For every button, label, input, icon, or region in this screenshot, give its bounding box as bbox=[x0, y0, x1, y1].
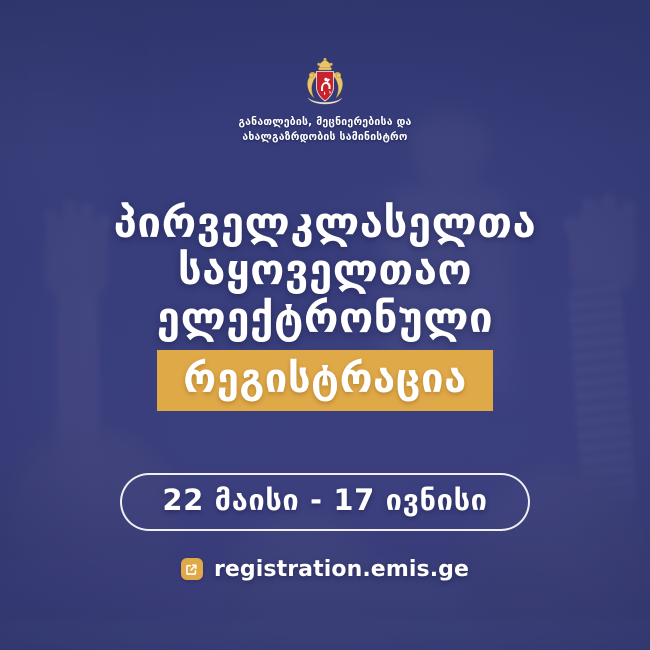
ministry-name-line2: ახალგაზრდობის სამინისტრო bbox=[238, 130, 411, 145]
ministry-name-line1: განათლების, მეცნიერებისა და bbox=[238, 115, 411, 130]
registration-url[interactable]: registration.emis.ge bbox=[214, 557, 469, 582]
headline-line-3: ელექტრონული bbox=[114, 294, 537, 341]
registration-poster: განათლების, მეცნიერებისა და ახალგაზრდობი… bbox=[0, 0, 650, 650]
date-range-pill: 22 მაისი - 17 ივნისი bbox=[120, 473, 529, 531]
highlight-wrapper: რეგისტრაცია bbox=[157, 350, 492, 411]
external-link-icon bbox=[181, 558, 203, 580]
headline: პირველკლასელთა საყოველთაო ელექტრონული bbox=[114, 199, 537, 340]
date-pill-wrapper: 22 მაისი - 17 ივნისი bbox=[120, 473, 529, 531]
headline-line-1: პირველკლასელთა bbox=[114, 199, 537, 246]
ministry-name: განათლების, მეცნიერებისა და ახალგაზრდობი… bbox=[238, 115, 411, 145]
headline-line-2: საყოველთაო bbox=[114, 246, 537, 293]
registration-link-row[interactable]: registration.emis.ge bbox=[181, 557, 469, 582]
shield-shape bbox=[317, 72, 334, 102]
ministry-logo-block: განათლების, მეცნიერებისა და ახალგაზრდობი… bbox=[238, 58, 411, 145]
poster-content: განათლების, მეცნიერებისა და ახალგაზრდობი… bbox=[0, 0, 650, 650]
highlighted-keyword: რეგისტრაცია bbox=[157, 350, 492, 411]
georgia-coat-of-arms-icon bbox=[302, 58, 348, 108]
